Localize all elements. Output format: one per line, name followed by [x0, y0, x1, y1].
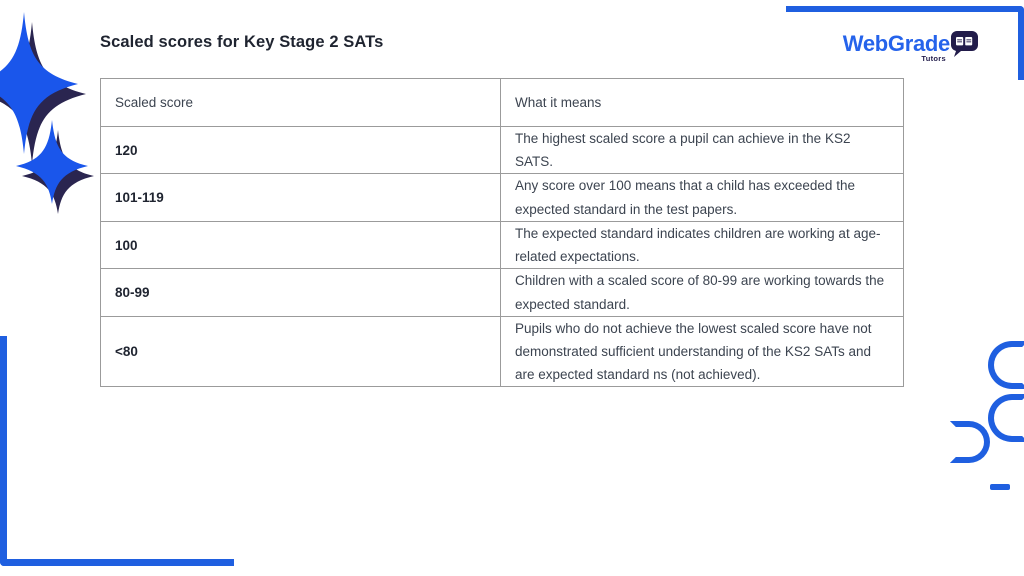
cell-meaning: Pupils who do not achieve the lowest sca… — [501, 316, 904, 387]
cell-meaning: Children with a scaled score of 80-99 ar… — [501, 269, 904, 316]
cell-scaled-score: 80-99 — [101, 269, 501, 316]
scaled-scores-table: Scaled score What it means 120 The highe… — [100, 78, 904, 387]
table-row: <80 Pupils who do not achieve the lowest… — [101, 316, 904, 387]
logo-subtitle: Tutors — [921, 54, 946, 63]
webgrade-tutors-logo: WebGrade Tutors — [843, 33, 978, 57]
table-row: 101-119 Any score over 100 means that a … — [101, 174, 904, 221]
page-title: Scaled scores for Key Stage 2 SATs — [100, 33, 383, 52]
decorative-dash — [990, 484, 1010, 490]
cell-scaled-score: 101-119 — [101, 174, 501, 221]
column-header-what-it-means: What it means — [501, 79, 904, 127]
cell-scaled-score: 120 — [101, 127, 501, 174]
table-row: 100 The expected standard indicates chil… — [101, 221, 904, 268]
column-header-scaled-score: Scaled score — [101, 79, 501, 127]
decorative-arc-left-facing — [950, 421, 990, 463]
cell-meaning: The highest scaled score a pupil can ach… — [501, 127, 904, 174]
table-row: 80-99 Children with a scaled score of 80… — [101, 269, 904, 316]
book-speech-bubble-icon — [951, 31, 978, 57]
decorative-arc-right-upper — [988, 341, 1024, 389]
cell-scaled-score: <80 — [101, 316, 501, 387]
logo-wordmark: WebGrade — [843, 33, 950, 55]
decorative-arc-right-lower — [988, 394, 1024, 442]
table-header-row: Scaled score What it means — [101, 79, 904, 127]
cell-meaning: The expected standard indicates children… — [501, 221, 904, 268]
table-row: 120 The highest scaled score a pupil can… — [101, 127, 904, 174]
cell-meaning: Any score over 100 means that a child ha… — [501, 174, 904, 221]
sparkle-icon-small — [10, 118, 98, 216]
cell-scaled-score: 100 — [101, 221, 501, 268]
